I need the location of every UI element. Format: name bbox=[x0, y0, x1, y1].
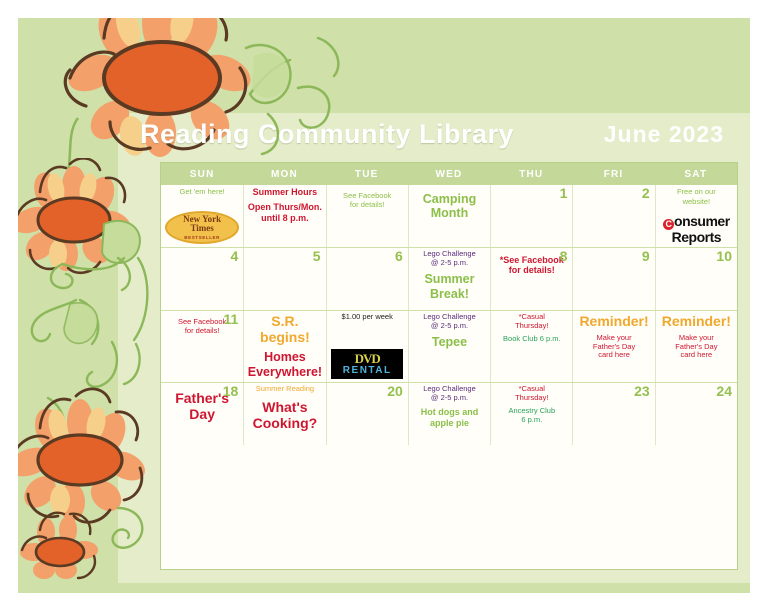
event-text: Break! bbox=[412, 287, 487, 301]
event-text: Summer Reading bbox=[247, 385, 322, 394]
calendar-day-cell[interactable]: $1.00 per weekDVDRENTAL bbox=[326, 311, 408, 382]
calendar-day-cell[interactable]: Free on ourwebsite!ConsumerReports bbox=[655, 185, 737, 247]
day-number: 24 bbox=[716, 384, 732, 399]
calendar-day-cell[interactable]: Lego Challenge@ 2-5 p.m.SummerBreak! bbox=[408, 248, 490, 310]
event-text: $1.00 per week bbox=[330, 313, 405, 322]
event-text: card here bbox=[659, 351, 734, 360]
day-number: 18 bbox=[223, 384, 239, 399]
calendar-grid: SUNMONTUEWEDTHUFRISAT Get 'em here!New Y… bbox=[160, 162, 738, 570]
calendar-week-row: 456Lego Challenge@ 2-5 p.m.SummerBreak!8… bbox=[161, 247, 737, 310]
consumer-line2: Reports bbox=[663, 230, 730, 244]
calendar-month-label: June 2023 bbox=[604, 121, 724, 148]
calendar-day-cell[interactable]: 1 bbox=[490, 185, 572, 247]
calendar-day-cell[interactable]: Lego Challenge@ 2-5 p.m.Hot dogs andappl… bbox=[408, 383, 490, 445]
event-text: *See Facebook bbox=[494, 255, 569, 265]
event-text: Tepee bbox=[412, 335, 487, 349]
calendar-day-cell[interactable]: 18Father'sDay bbox=[161, 383, 243, 445]
day-number: 6 bbox=[395, 249, 403, 264]
event-text: @ 2-5 p.m. bbox=[412, 322, 487, 331]
calendar-day-cell[interactable]: Get 'em here!New YorkTimesBESTSELLER bbox=[161, 185, 243, 247]
event-text: 6 p.m. bbox=[494, 416, 569, 425]
event-text: Hot dogs and bbox=[412, 407, 487, 417]
day-number: 9 bbox=[642, 249, 650, 264]
event-text: Summer bbox=[412, 272, 487, 286]
event-text: Reminder! bbox=[576, 313, 651, 329]
dvd-line2: RENTAL bbox=[343, 365, 392, 376]
event-text: Reminder! bbox=[659, 313, 734, 329]
calendar-day-cell[interactable]: 10 bbox=[655, 248, 737, 310]
calendar-week-row: 11See Facebookfor details!S.R. begins!Ho… bbox=[161, 310, 737, 382]
calendar-day-cell[interactable]: 5 bbox=[243, 248, 325, 310]
event-text: Camping bbox=[412, 192, 487, 206]
page-title: Reading Community Library bbox=[140, 119, 514, 150]
event-text: Month bbox=[412, 206, 487, 220]
calendar-day-cell[interactable]: 9 bbox=[572, 248, 654, 310]
calendar-header: Reading Community Library June 2023 bbox=[140, 112, 740, 156]
day-number: 1 bbox=[560, 186, 568, 201]
event-text: @ 2-5 p.m. bbox=[412, 259, 487, 268]
event-text: apple pie bbox=[412, 418, 487, 428]
day-number: 4 bbox=[230, 249, 238, 264]
event-text: website! bbox=[659, 198, 734, 207]
event-text: Thursday! bbox=[494, 322, 569, 331]
calendar-day-cell[interactable]: Summer ReadingWhat'sCooking? bbox=[243, 383, 325, 445]
calendar-day-cell[interactable]: 24 bbox=[655, 383, 737, 445]
event-text: Free on our bbox=[659, 188, 734, 197]
calendar-week-row: 18Father'sDaySummer ReadingWhat'sCooking… bbox=[161, 382, 737, 445]
consumer-line1: onsumer bbox=[674, 213, 730, 229]
calendar-day-cell[interactable]: Lego Challenge@ 2-5 p.m.Tepee bbox=[408, 311, 490, 382]
event-text: Get 'em here! bbox=[164, 188, 240, 197]
calendar-day-cell[interactable]: See Facebookfor details! bbox=[326, 185, 408, 247]
event-text: Thursday! bbox=[494, 394, 569, 403]
calendar-day-cell[interactable]: *CasualThursday!Ancestry Club6 p.m. bbox=[490, 383, 572, 445]
event-text: What's bbox=[247, 399, 322, 415]
event-text: Everywhere! bbox=[247, 365, 322, 379]
day-number: 23 bbox=[634, 384, 650, 399]
day-number: 11 bbox=[223, 312, 238, 327]
event-text: Day bbox=[164, 406, 240, 422]
calendar-day-cell[interactable]: *CasualThursday!Book Club 6 p.m. bbox=[490, 311, 572, 382]
event-text: card here bbox=[576, 351, 651, 360]
event-text: S.R. begins! bbox=[247, 313, 322, 345]
event-text: until 8 p.m. bbox=[247, 213, 322, 223]
calendar-poster: Reading Community Library June 2023 SUNM… bbox=[18, 18, 750, 593]
nyt-line2: Times bbox=[190, 224, 213, 233]
day-number: 5 bbox=[313, 249, 321, 264]
weekday-header-sat: SAT bbox=[655, 163, 737, 185]
event-text: Book Club 6 p.m. bbox=[494, 335, 569, 344]
calendar-day-cell[interactable]: Reminder!Make yourFather's Daycard here bbox=[655, 311, 737, 382]
event-text: for details! bbox=[164, 327, 240, 336]
nyt-bestseller-logo: New YorkTimesBESTSELLER bbox=[165, 211, 239, 244]
dvd-line1: DVD bbox=[355, 352, 380, 365]
event-text: for details! bbox=[494, 265, 569, 275]
weekday-header-fri: FRI bbox=[572, 163, 654, 185]
day-number: 2 bbox=[642, 186, 650, 201]
event-text: @ 2-5 p.m. bbox=[412, 394, 487, 403]
calendar-day-cell[interactable]: 11See Facebookfor details! bbox=[161, 311, 243, 382]
event-text: Open Thurs/Mon. bbox=[247, 202, 322, 212]
day-number: 8 bbox=[560, 249, 568, 264]
calendar-day-cell[interactable]: CampingMonth bbox=[408, 185, 490, 247]
weekday-header-thu: THU bbox=[490, 163, 572, 185]
calendar-day-cell[interactable]: Reminder!Make yourFather's Daycard here bbox=[572, 311, 654, 382]
weekday-header-wed: WED bbox=[408, 163, 490, 185]
calendar-day-cell[interactable]: 4 bbox=[161, 248, 243, 310]
weekday-header-tue: TUE bbox=[326, 163, 408, 185]
calendar-week-row: Get 'em here!New YorkTimesBESTSELLERSumm… bbox=[161, 185, 737, 247]
calendar-weeks: Get 'em here!New YorkTimesBESTSELLERSumm… bbox=[161, 185, 737, 445]
day-number: 10 bbox=[716, 249, 732, 264]
calendar-day-cell[interactable]: 20 bbox=[326, 383, 408, 445]
event-text: Homes bbox=[247, 350, 322, 364]
weekday-header-mon: MON bbox=[243, 163, 325, 185]
weekday-header-row: SUNMONTUEWEDTHUFRISAT bbox=[161, 163, 737, 185]
day-number: 20 bbox=[387, 384, 403, 399]
calendar-day-cell[interactable]: Summer HoursOpen Thurs/Mon.until 8 p.m. bbox=[243, 185, 325, 247]
calendar-day-cell[interactable]: 2 bbox=[572, 185, 654, 247]
weekday-header-sun: SUN bbox=[161, 163, 243, 185]
nyt-line3: BESTSELLER bbox=[184, 235, 220, 240]
calendar-day-cell[interactable]: 8*See Facebookfor details! bbox=[490, 248, 572, 310]
event-text: for details! bbox=[330, 201, 405, 210]
event-text: Cooking? bbox=[247, 415, 322, 431]
dvd-rental-logo: DVDRENTAL bbox=[331, 349, 403, 379]
consumer-reports-logo: ConsumerReports bbox=[663, 214, 730, 244]
calendar-day-cell[interactable]: S.R. begins!HomesEverywhere! bbox=[243, 311, 325, 382]
calendar-day-cell[interactable]: 23 bbox=[572, 383, 654, 445]
calendar-day-cell[interactable]: 6 bbox=[326, 248, 408, 310]
event-text: Summer Hours bbox=[247, 187, 322, 197]
